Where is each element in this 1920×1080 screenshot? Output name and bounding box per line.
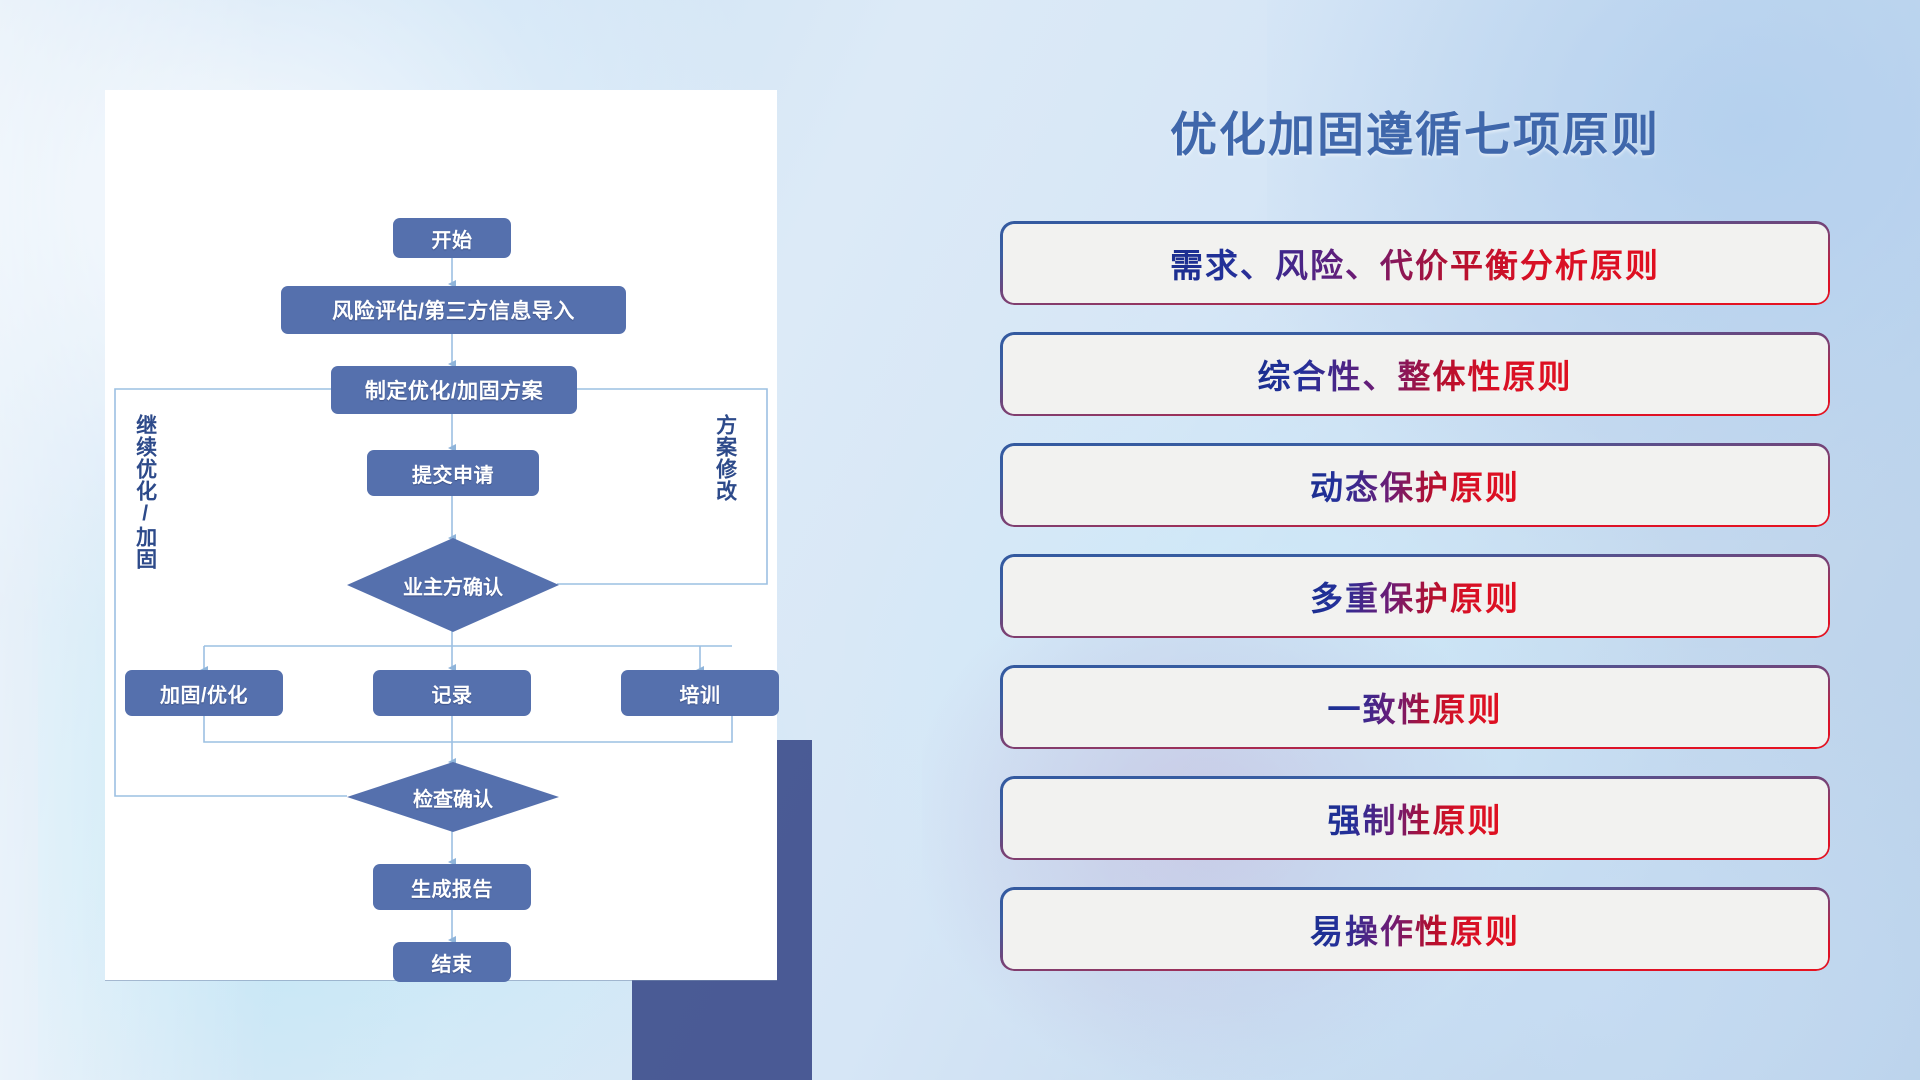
flowchart-card: 开始 风险评估/第三方信息导入 制定优化/加固方案 提交申请 业主方确认 加固/…: [105, 90, 777, 980]
flow-node-record[interactable]: 记录: [373, 670, 531, 716]
flow-node-risk-assessment[interactable]: 风险评估/第三方信息导入: [281, 286, 626, 334]
flow-node-make-plan[interactable]: 制定优化/加固方案: [331, 366, 577, 414]
flow-node-training[interactable]: 培训: [621, 670, 779, 716]
principle-card[interactable]: 多重保护原则: [1000, 554, 1830, 638]
principles-panel: 优化加固遵循七项原则 需求、风险、代价平衡分析原则 综合性、整体性原则 动态保护…: [1000, 96, 1830, 998]
principle-card[interactable]: 动态保护原则: [1000, 443, 1830, 527]
principle-card[interactable]: 易操作性原则: [1000, 887, 1830, 971]
principle-card-label: 一致性原则: [1328, 683, 1503, 731]
flow-edge-label-left-loop: 继续优化/加固: [133, 414, 156, 570]
principle-card-label: 需求、风险、代价平衡分析原则: [1170, 239, 1660, 287]
flow-node-end[interactable]: 结束: [393, 942, 511, 982]
principle-card-label: 动态保护原则: [1310, 461, 1520, 509]
flow-node-reinforce-optimize[interactable]: 加固/优化: [125, 670, 283, 716]
principle-card-label: 易操作性原则: [1310, 905, 1520, 953]
flow-edge-label-right-loop: 方案修改: [713, 414, 736, 502]
principle-card[interactable]: 一致性原则: [1000, 665, 1830, 749]
flowchart-panel: 开始 风险评估/第三方信息导入 制定优化/加固方案 提交申请 业主方确认 加固/…: [105, 90, 785, 980]
principle-card-label: 多重保护原则: [1310, 572, 1520, 620]
principle-card[interactable]: 需求、风险、代价平衡分析原则: [1000, 221, 1830, 305]
principles-title: 优化加固遵循七项原则: [1000, 96, 1830, 165]
principle-card[interactable]: 综合性、整体性原则: [1000, 332, 1830, 416]
principle-card-label: 强制性原则: [1328, 794, 1503, 842]
flow-node-submit-application[interactable]: 提交申请: [367, 450, 539, 496]
principle-card-label: 综合性、整体性原则: [1258, 350, 1573, 398]
flow-node-start[interactable]: 开始: [393, 218, 511, 258]
principle-card[interactable]: 强制性原则: [1000, 776, 1830, 860]
flow-node-generate-report[interactable]: 生成报告: [373, 864, 531, 910]
